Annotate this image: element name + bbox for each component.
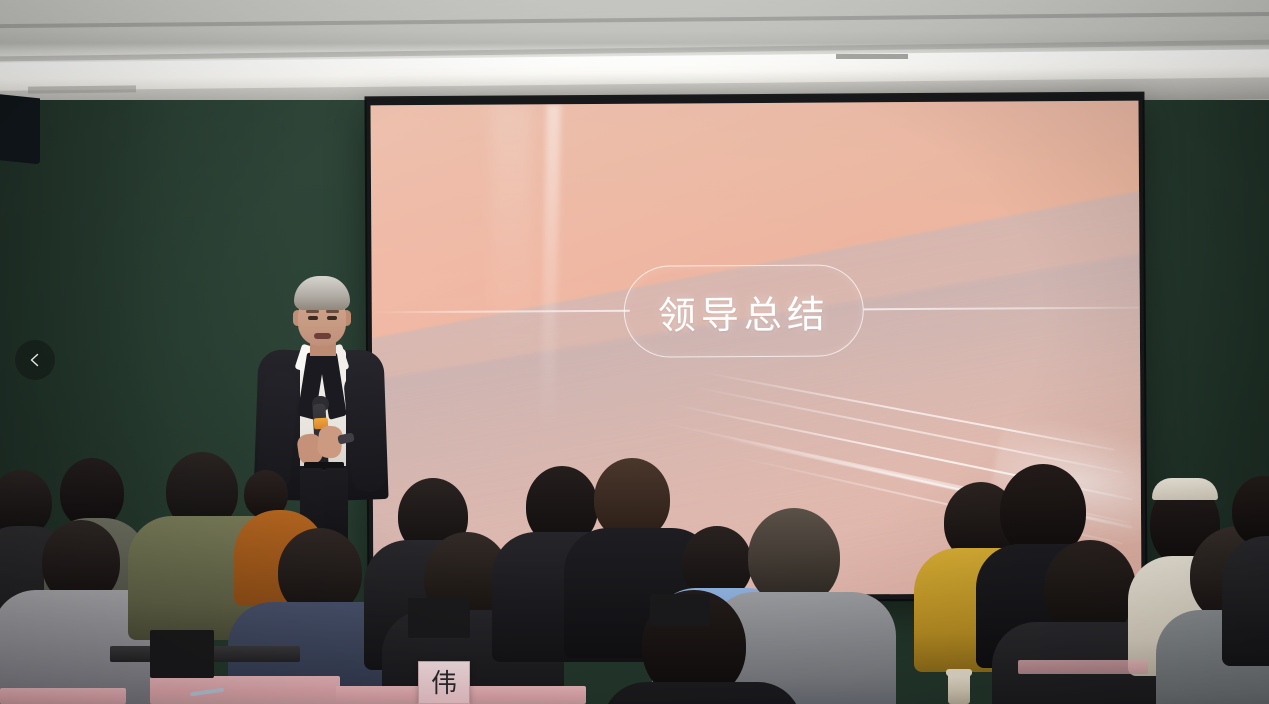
attendee-headband [1152,478,1218,500]
attendee-torso [1222,536,1269,666]
slide-light-streak [491,104,533,364]
chevron-left-icon [27,352,43,368]
paper-cup-lid [946,669,972,676]
ceiling-seam [0,12,1269,29]
photo-viewer: 领导总结 [0,0,1269,704]
name-placard: 伟 [418,661,470,704]
speaker-hair [294,276,350,310]
speaker-eyebrow [326,310,339,313]
paper-cup [948,672,970,704]
laptop [150,630,214,678]
slide-title: 领导总结 [658,283,830,339]
desk-surface [1018,660,1148,674]
ceiling-vent-icon [28,85,136,93]
desk-surface [0,688,126,704]
name-placard-text: 伟 [431,670,457,696]
laptop [408,598,470,638]
desk-surface [150,676,340,704]
ceiling-vent-icon [836,54,908,59]
ceiling [0,0,1269,108]
ceiling-speaker-box [0,94,40,165]
speaker-eye [308,316,318,320]
attendee-torso [602,682,802,704]
slide-title-pill: 领导总结 [623,264,864,357]
previous-image-button[interactable] [15,340,55,380]
speaker-mouth [314,333,331,339]
speaker-eye [327,316,337,320]
laptop [650,594,710,626]
speaker-eyebrow [306,310,319,313]
